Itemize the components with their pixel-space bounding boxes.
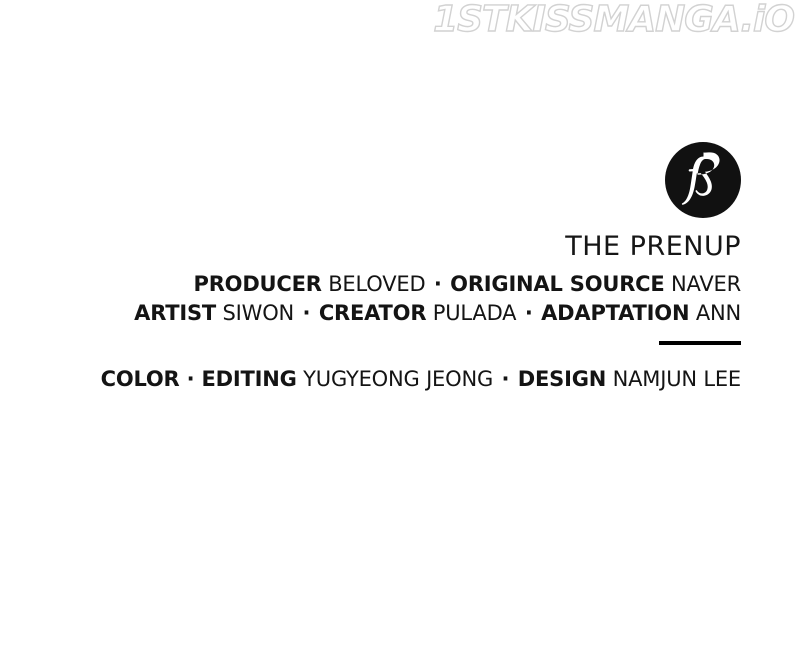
- credit-separator: ·: [432, 272, 444, 296]
- credit-value: BELOVED: [328, 272, 425, 296]
- credit-label: DESIGN: [518, 367, 606, 391]
- credit-value: ANN: [696, 301, 741, 325]
- credit-separator: ·: [523, 301, 535, 325]
- page-title: THE PRENUP: [0, 231, 741, 263]
- credit-value: SIWON: [223, 301, 295, 325]
- credit-label: CREATOR: [319, 301, 427, 325]
- credit-label: PRODUCER: [194, 272, 322, 296]
- credit-value: PULADA: [433, 301, 517, 325]
- credit-value: NAVER: [671, 272, 741, 296]
- credits-page: 1STKISSMANGA.iO THE PRENUP PRODUCER BELO…: [0, 0, 800, 652]
- credit-label: ORIGINAL SOURCE: [450, 272, 664, 296]
- credit-label: ADAPTATION: [541, 301, 689, 325]
- credit-value: NAMJUN LEE: [613, 367, 741, 391]
- logo-container: [0, 0, 741, 218]
- credit-line-1: PRODUCER BELOVED · ORIGINAL SOURCE NAVER: [0, 270, 741, 299]
- credit-separator: ·: [301, 301, 313, 325]
- credit-label: ARTIST: [134, 301, 216, 325]
- credit-separator: ·: [500, 367, 512, 391]
- b-monogram-logo: [665, 142, 741, 218]
- credit-line-3: COLOR · EDITING YUGYEONG JEONG · DESIGN …: [0, 365, 741, 394]
- divider-container: [0, 341, 741, 345]
- credit-value: YUGYEONG JEONG: [303, 367, 493, 391]
- section-divider: [659, 341, 741, 345]
- credit-label: COLOR · EDITING: [101, 367, 297, 391]
- credit-line-2: ARTIST SIWON · CREATOR PULADA · ADAPTATI…: [0, 299, 741, 328]
- credits-block: THE PRENUP PRODUCER BELOVED · ORIGINAL S…: [0, 0, 741, 394]
